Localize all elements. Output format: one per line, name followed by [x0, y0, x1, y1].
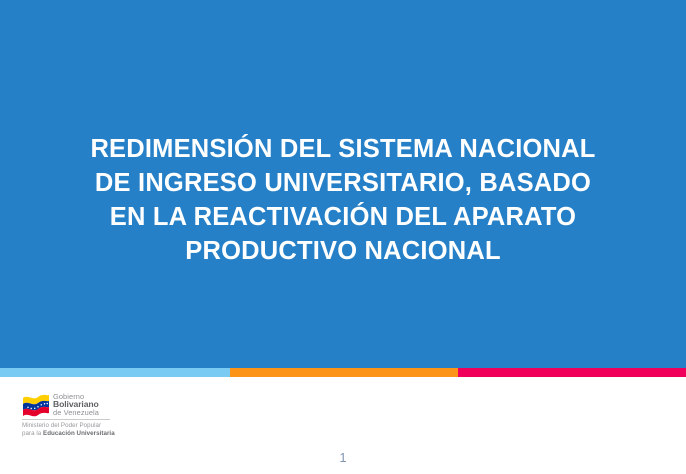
ministry-line-2: para la Educación Universitaria — [22, 430, 114, 438]
title-panel: REDIMENSIÓN DEL SISTEMA NACIONAL DE INGR… — [0, 0, 686, 368]
accent-segment-orange — [230, 368, 458, 377]
venezuela-flag-icon — [22, 393, 50, 417]
accent-color-bar — [0, 368, 686, 377]
accent-segment-light-blue — [0, 368, 230, 377]
page-number: 1 — [0, 450, 686, 465]
gobierno-bolivariano-venezuela-logo: Gobierno Bolivariano de Venezuela Minist… — [22, 393, 114, 439]
ministry-line-1: Ministerio del Poder Popular — [22, 422, 114, 430]
title-line-4: PRODUCTIVO NACIONAL — [0, 234, 686, 268]
slide-footer: Gobierno Bolivariano de Venezuela Minist… — [0, 377, 686, 474]
slide-title: REDIMENSIÓN DEL SISTEMA NACIONAL DE INGR… — [0, 132, 686, 268]
accent-segment-pink — [458, 368, 686, 377]
logo-line-venezuela: de Venezuela — [53, 409, 99, 416]
ministry-name: Educación Universitaria — [43, 430, 115, 437]
logo-divider — [22, 419, 110, 420]
title-line-3: EN LA REACTIVACIÓN DEL APARATO — [0, 200, 686, 234]
title-line-2: DE INGRESO UNIVERSITARIO, BASADO — [0, 166, 686, 200]
logo-top-row: Gobierno Bolivariano de Venezuela — [22, 393, 114, 417]
title-line-1: REDIMENSIÓN DEL SISTEMA NACIONAL — [0, 132, 686, 166]
presentation-slide: REDIMENSIÓN DEL SISTEMA NACIONAL DE INGR… — [0, 0, 686, 474]
logo-wordmark: Gobierno Bolivariano de Venezuela — [53, 393, 99, 416]
ministry-prefix: para la — [22, 430, 43, 437]
